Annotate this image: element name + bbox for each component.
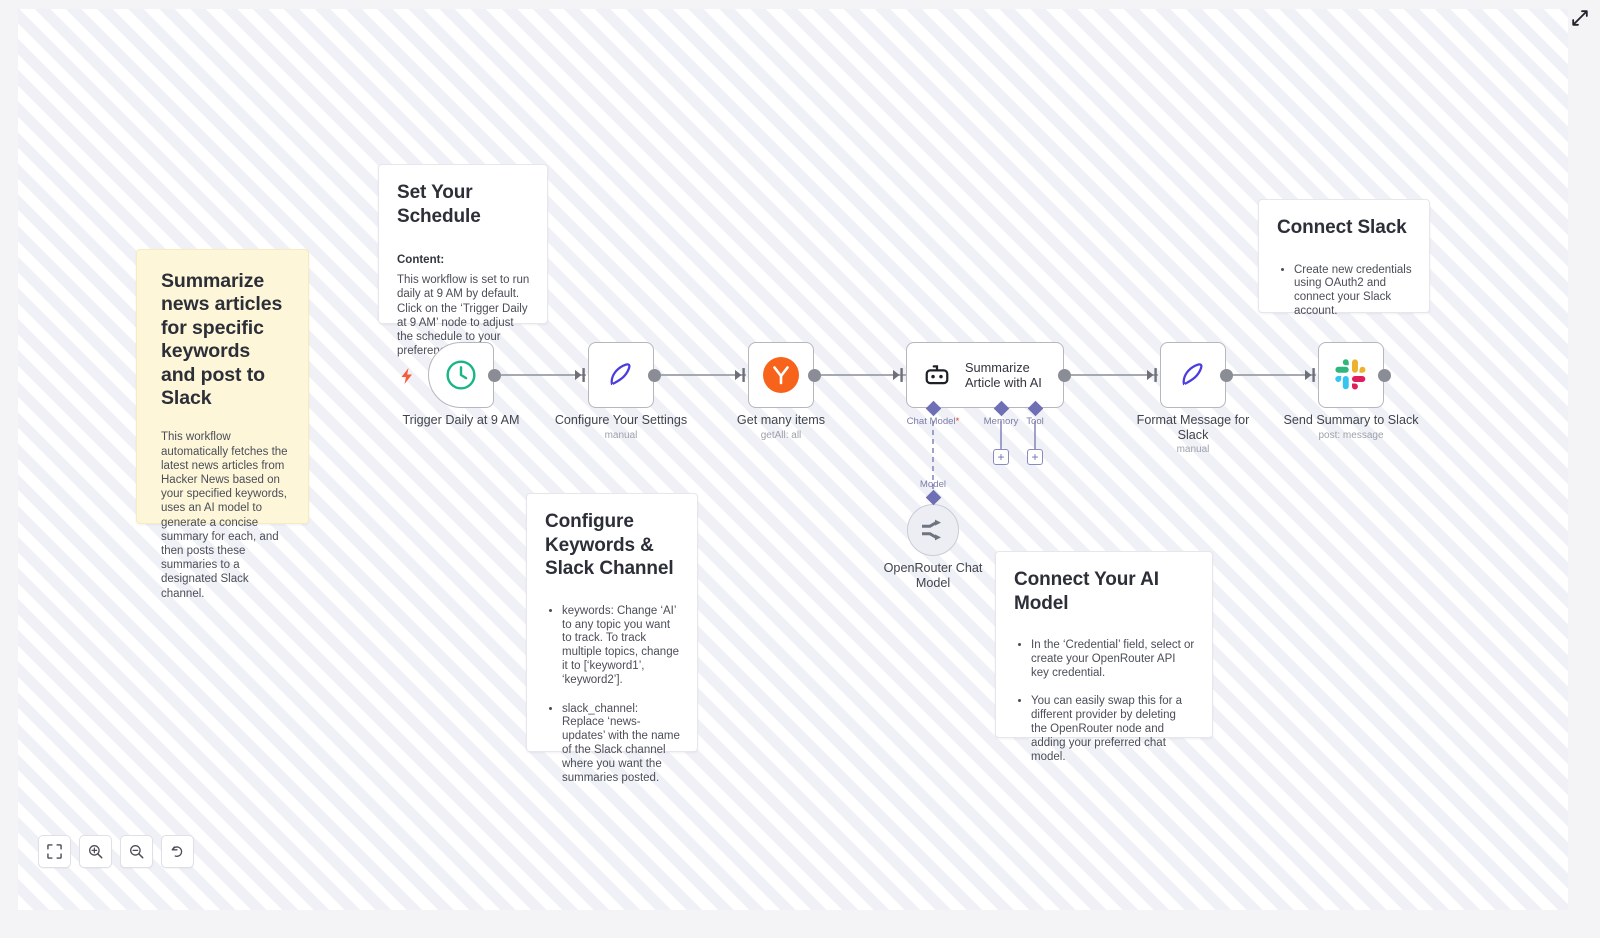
settings-input-port[interactable]	[575, 368, 587, 382]
trigger-output-port[interactable]	[488, 369, 501, 382]
slack-input-port[interactable]	[1305, 368, 1317, 382]
node-sublabel-settings: manual	[538, 430, 704, 441]
node-summarize-with-ai[interactable]: Summarize Article with AI	[906, 342, 1064, 408]
node-sublabel-hackernews: getAll: all	[708, 430, 854, 441]
reset-zoom-button[interactable]	[161, 835, 194, 868]
zoom-out-button[interactable]	[120, 835, 153, 868]
zoom-out-icon	[129, 844, 144, 859]
format-input-port[interactable]	[1147, 368, 1159, 382]
connection-edges	[18, 9, 1568, 910]
node-label-hackernews: Get many items	[708, 413, 854, 428]
node-trigger-daily[interactable]	[428, 342, 494, 408]
zoom-in-icon	[88, 844, 103, 859]
workflow-canvas[interactable]: Trigger Daily at 9 AM Configure Your Set…	[18, 9, 1568, 910]
reset-undo-icon	[170, 844, 185, 859]
fit-view-icon	[47, 844, 62, 859]
node-label-settings: Configure Your Settings	[538, 413, 704, 428]
add-memory-button[interactable]: +	[993, 449, 1009, 465]
hacker-news-icon	[763, 357, 799, 393]
node-hacker-news[interactable]	[748, 342, 814, 408]
clock-icon	[444, 358, 478, 392]
trigger-bolt-icon	[399, 367, 415, 385]
node-label-format: Format Message for Slack	[1123, 413, 1263, 443]
node-format-message[interactable]	[1160, 342, 1226, 408]
ai-robot-icon	[923, 361, 951, 389]
node-sublabel-slack: post: message	[1271, 430, 1431, 441]
label-tool: Tool	[1000, 416, 1070, 427]
edit-pencil-icon	[1176, 358, 1210, 392]
node-sublabel-format: manual	[1123, 444, 1263, 455]
add-tool-button[interactable]: +	[1027, 449, 1043, 465]
node-configure-settings[interactable]	[588, 342, 654, 408]
expand-fullscreen-button[interactable]	[1570, 8, 1590, 28]
hackernews-input-port[interactable]	[735, 368, 747, 382]
node-title-summarize: Summarize Article with AI	[965, 360, 1042, 390]
node-label-trigger: Trigger Daily at 9 AM	[378, 413, 544, 428]
edit-pencil-icon	[604, 358, 638, 392]
slack-output-port[interactable]	[1378, 369, 1391, 382]
zoom-in-button[interactable]	[79, 835, 112, 868]
node-label-openrouter: OpenRouter Chat Model	[873, 561, 993, 591]
fit-view-button[interactable]	[38, 835, 71, 868]
openrouter-icon	[919, 519, 947, 541]
node-label-slack: Send Summary to Slack	[1271, 413, 1431, 428]
agent-output-port[interactable]	[1058, 369, 1071, 382]
expand-diagonal-icon	[1570, 8, 1590, 28]
format-output-port[interactable]	[1220, 369, 1233, 382]
label-chat-model-text: Chat Model	[907, 416, 956, 427]
hackernews-output-port[interactable]	[808, 369, 821, 382]
agent-input-port[interactable]	[893, 368, 905, 382]
node-send-summary-slack[interactable]	[1318, 342, 1384, 408]
node-openrouter-chat-model[interactable]	[907, 504, 959, 556]
slack-icon	[1334, 358, 1368, 392]
settings-output-port[interactable]	[648, 369, 661, 382]
canvas-toolbar	[38, 835, 194, 868]
